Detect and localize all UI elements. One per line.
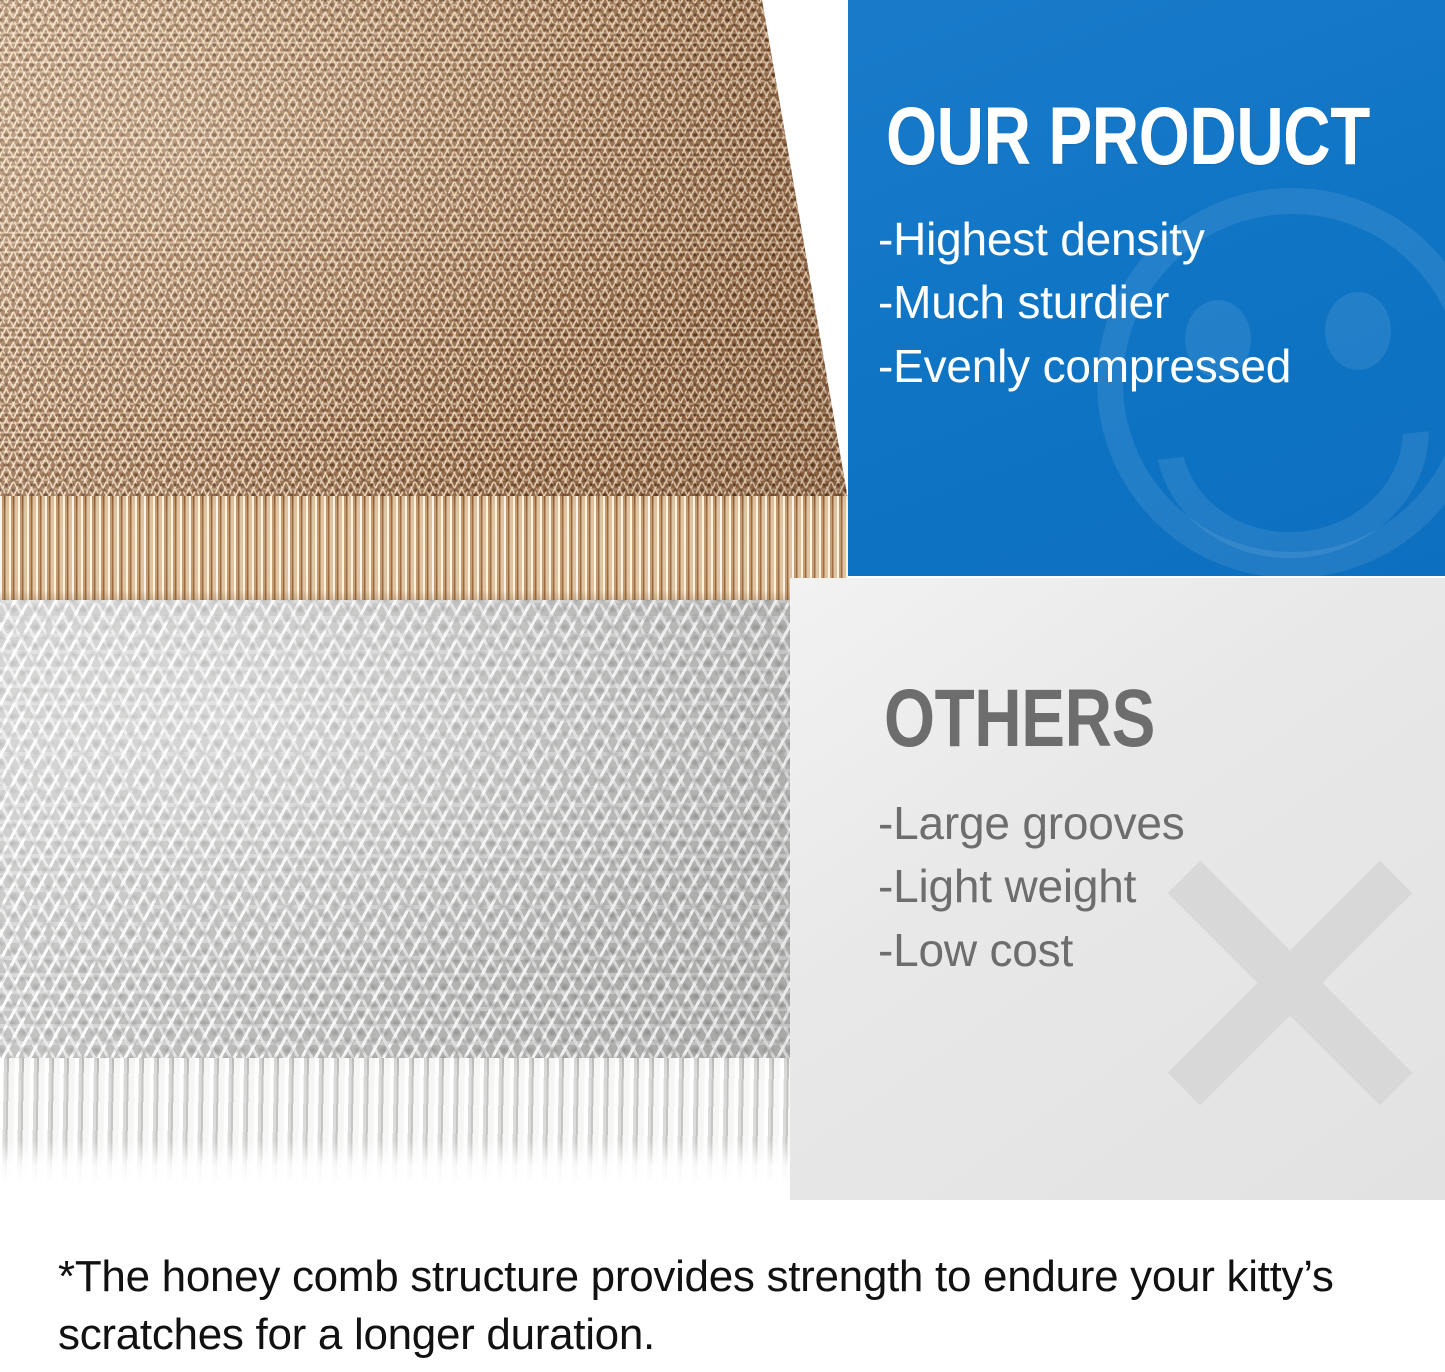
footnote-text: *The honey comb structure provides stren… xyxy=(58,1248,1408,1364)
others-bullet-list: -Large grooves -Light weight -Low cost xyxy=(878,792,1185,982)
list-item: -Evenly compressed xyxy=(878,335,1291,398)
list-item: -Light weight xyxy=(878,855,1185,918)
list-item: -Large grooves xyxy=(878,792,1185,855)
list-item: -Much sturdier xyxy=(878,271,1291,334)
kraft-honeycomb-surface xyxy=(0,0,900,500)
product-cardboard-photo xyxy=(0,0,900,608)
our-product-bullet-list: -Highest density -Much sturdier -Evenly … xyxy=(878,208,1291,398)
x-mark-icon xyxy=(1140,833,1440,1133)
others-heading: OTHERS xyxy=(884,678,1155,760)
white-board-front-edge xyxy=(0,1058,900,1186)
list-item: -Highest density xyxy=(878,208,1291,271)
our-product-heading: OUR PRODUCT xyxy=(886,96,1370,178)
infographic-page: OUR PRODUCT -Highest density -Much sturd… xyxy=(0,0,1445,1372)
white-honeycomb-surface xyxy=(0,600,900,1062)
others-cardboard-photo xyxy=(0,600,900,1200)
list-item: -Low cost xyxy=(878,919,1185,982)
kraft-board-front-edge xyxy=(0,496,900,608)
